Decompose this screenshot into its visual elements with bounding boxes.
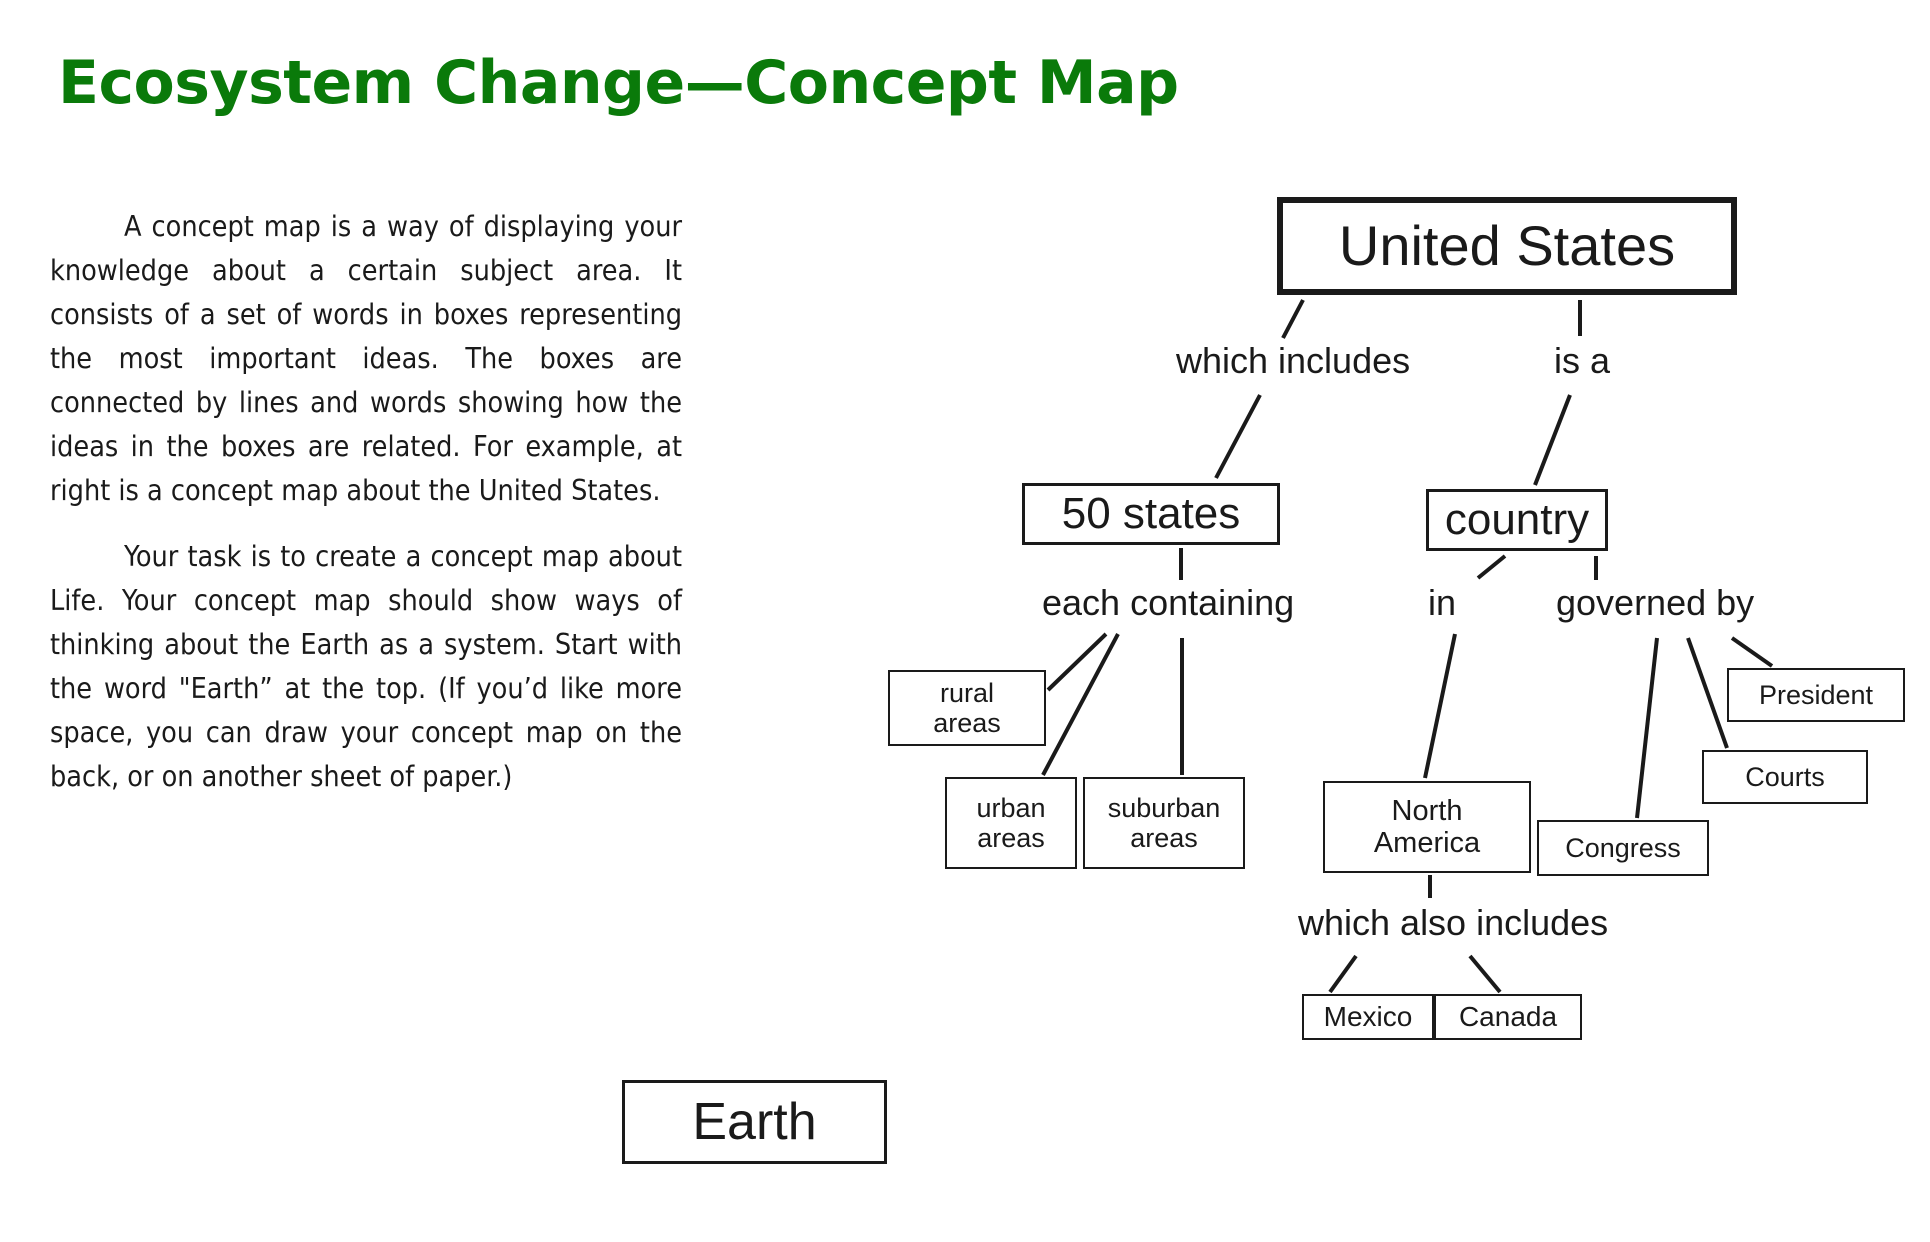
concept-node-urban-areas: urban areas <box>945 777 1077 869</box>
concept-node-suburban-areas: suburban areas <box>1083 777 1245 869</box>
relation-label-which-includes: which includes <box>1176 340 1410 382</box>
connector-us-to-which-includes <box>1283 300 1303 338</box>
instructions-paragraph-2: Your task is to create a concept map abo… <box>50 535 682 799</box>
concept-node-united-states: United States <box>1277 197 1737 295</box>
concept-node-50-states: 50 states <box>1022 483 1280 545</box>
concept-node-north-america: North America <box>1323 781 1531 873</box>
answer-starter-node-earth: Earth <box>622 1080 887 1164</box>
instructions-block: A concept map is a way of displaying you… <box>50 205 682 799</box>
instructions-paragraph-1: A concept map is a way of displaying you… <box>50 205 682 513</box>
concept-node-country: country <box>1426 489 1608 551</box>
connector-each-containing-to-rural <box>1048 634 1106 690</box>
relation-label-in: in <box>1428 582 1456 624</box>
concept-node-congress: Congress <box>1537 820 1709 876</box>
connector-governed-by-to-president <box>1732 638 1772 666</box>
relation-label-which-also-includes: which also includes <box>1298 902 1608 944</box>
concept-node-mexico: Mexico <box>1302 994 1434 1040</box>
connector-each-containing-to-urban <box>1043 634 1118 775</box>
relation-label-governed-by: governed by <box>1556 582 1754 624</box>
connector-in-to-north-america <box>1425 634 1455 778</box>
connector-which-also-includes-to-canada <box>1470 956 1500 992</box>
connector-governed-by-to-congress <box>1637 638 1657 818</box>
connector-which-includes-to-50-states <box>1216 395 1260 478</box>
connector-governed-by-to-courts <box>1688 638 1727 748</box>
concept-node-canada: Canada <box>1434 994 1582 1040</box>
concept-node-rural-areas: rural areas <box>888 670 1046 746</box>
connector-country-to-in <box>1478 556 1505 578</box>
relation-label-is-a: is a <box>1554 340 1610 382</box>
relation-label-each-containing: each containing <box>1042 582 1294 624</box>
concept-node-courts: Courts <box>1702 750 1868 804</box>
concept-node-president: President <box>1727 668 1905 722</box>
connector-is-a-to-country <box>1535 395 1570 485</box>
page-title: Ecosystem Change—Concept Map <box>58 48 1179 118</box>
connector-which-also-includes-to-mexico <box>1330 956 1356 992</box>
